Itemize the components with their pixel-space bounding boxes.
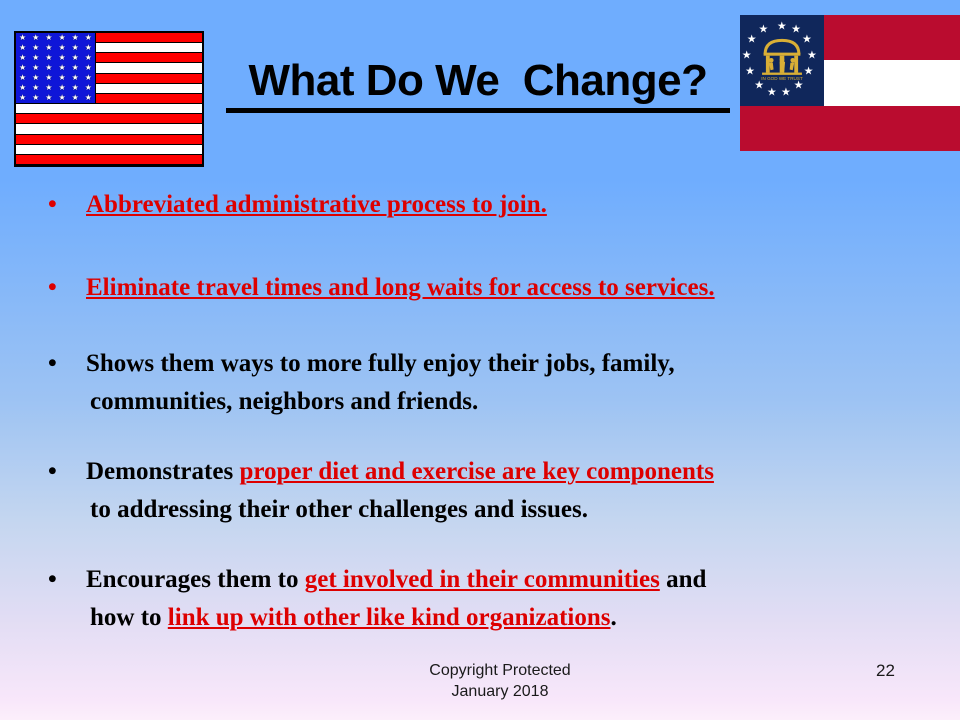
bullet-segment: .: [611, 604, 617, 631]
star-icon: ★: [745, 67, 755, 78]
star-icon: ★: [58, 34, 65, 42]
star-icon: ★: [754, 80, 764, 91]
star-icon: ★: [72, 84, 79, 92]
star-icon: ★: [19, 44, 26, 52]
bullet-item: • Demonstrates proper diet and exercise …: [48, 453, 928, 529]
star-icon: ★: [58, 64, 65, 72]
bullet-segment-highlight: proper diet and exercise are key compone…: [239, 458, 714, 485]
star-icon: ★: [32, 54, 39, 62]
star-icon: ★: [742, 50, 752, 61]
star-icon: ★: [58, 84, 65, 92]
star-icon: ★: [807, 50, 817, 61]
page-number: 22: [876, 660, 895, 681]
bullet-list: • Abbreviated administrative process to …: [48, 186, 928, 637]
star-icon: ★: [32, 64, 39, 72]
star-icon: ★: [85, 74, 92, 82]
bullet-line: how to link up with other like kind orga…: [86, 599, 928, 637]
us-flag-stripe: [16, 145, 202, 155]
star-icon: ★: [777, 21, 787, 32]
bullet-segment: Shows them ways to more fully enjoy thei…: [86, 350, 675, 377]
star-icon: ★: [781, 88, 791, 99]
star-icon: ★: [85, 44, 92, 52]
star-icon: ★: [72, 74, 79, 82]
star-icon: ★: [19, 94, 26, 102]
bullet-text: Shows them ways to more fully enjoy thei…: [86, 345, 928, 421]
star-icon: ★: [32, 94, 39, 102]
star-icon: ★: [19, 74, 26, 82]
bullet-marker: •: [48, 186, 86, 224]
bullet-segment: to addressing their other challenges and…: [86, 491, 928, 529]
slide-canvas: ★★★★★★ ★★★★★★ ★★★★★★ ★★★★★★ ★★★★★★ ★★★★★…: [0, 0, 960, 720]
bullet-text: Eliminate travel times and long waits fo…: [86, 269, 928, 307]
bullet-item: • Encourages them to get involved in the…: [48, 561, 928, 637]
bullet-marker: •: [48, 269, 86, 307]
us-flag-stripe: [16, 104, 202, 114]
bullet-marker: •: [48, 453, 86, 491]
star-icon: ★: [72, 64, 79, 72]
star-icon: ★: [72, 94, 79, 102]
star-icon: ★: [32, 34, 39, 42]
star-icon: ★: [85, 54, 92, 62]
svg-text:IN GOD WE TRUST: IN GOD WE TRUST: [761, 76, 803, 81]
star-icon: ★: [45, 44, 52, 52]
us-flag-stripe: [16, 155, 202, 165]
star-icon: ★: [767, 88, 777, 99]
footer-copyright: Copyright Protected January 2018: [370, 660, 630, 702]
star-icon: ★: [58, 54, 65, 62]
title-underline-rule: [226, 108, 730, 113]
star-icon: ★: [32, 84, 39, 92]
star-icon: ★: [85, 34, 92, 42]
star-icon: ★: [747, 35, 757, 46]
bullet-item: • Shows them ways to more fully enjoy th…: [48, 345, 928, 421]
bullet-segment: communities, neighbors and friends.: [86, 383, 928, 421]
us-flag-canton: ★★★★★★ ★★★★★★ ★★★★★★ ★★★★★★ ★★★★★★ ★★★★★…: [16, 33, 96, 104]
bullet-text: Encourages them to get involved in their…: [86, 561, 928, 637]
star-icon: ★: [45, 94, 52, 102]
star-icon: ★: [32, 74, 39, 82]
star-icon: ★: [72, 54, 79, 62]
bullet-segment-highlight: link up with other like kind organizatio…: [168, 604, 611, 631]
bullet-text: Demonstrates proper diet and exercise ar…: [86, 453, 928, 529]
star-icon: ★: [45, 54, 52, 62]
bullet-marker: •: [48, 561, 86, 599]
ga-flag-canton: ★ ★ ★ ★ ★ ★ ★ ★ ★ ★ ★ ★ ★: [740, 15, 824, 106]
bullet-segment: and: [660, 566, 707, 593]
star-icon: ★: [804, 67, 814, 78]
star-icon: ★: [85, 84, 92, 92]
star-icon: ★: [32, 44, 39, 52]
ga-flag-red-bar: [740, 106, 960, 151]
star-icon: ★: [58, 94, 65, 102]
united-states-flag-icon: ★★★★★★ ★★★★★★ ★★★★★★ ★★★★★★ ★★★★★★ ★★★★★…: [14, 31, 204, 167]
bullet-item: • Abbreviated administrative process to …: [48, 186, 928, 224]
bullet-text: Abbreviated administrative process to jo…: [86, 186, 928, 224]
star-icon: ★: [85, 64, 92, 72]
bullet-segment-highlight: get involved in their communities: [305, 566, 660, 593]
bullet-item: • Eliminate travel times and long waits …: [48, 269, 928, 307]
us-flag-stripe: [16, 135, 202, 145]
star-icon: ★: [19, 34, 26, 42]
bullet-segment: Demonstrates: [86, 458, 239, 485]
footer-line-1: Copyright Protected: [370, 660, 630, 681]
slide-title: What Do We Change?: [222, 55, 734, 107]
us-flag-stripe: [16, 124, 202, 134]
star-icon: ★: [45, 64, 52, 72]
bullet-segment: Abbreviated administrative process to jo…: [86, 191, 547, 218]
star-icon: ★: [19, 64, 26, 72]
star-icon: ★: [72, 34, 79, 42]
star-icon: ★: [45, 84, 52, 92]
star-icon: ★: [794, 80, 804, 91]
star-icon: ★: [19, 54, 26, 62]
star-icon: ★: [58, 74, 65, 82]
us-flag-stripe: [16, 114, 202, 124]
georgia-state-seal-icon: IN GOD WE TRUST: [759, 34, 805, 82]
bullet-segment: Encourages them to: [86, 566, 305, 593]
georgia-state-flag-icon: ★ ★ ★ ★ ★ ★ ★ ★ ★ ★ ★ ★ ★: [740, 15, 960, 151]
star-icon: ★: [72, 44, 79, 52]
star-icon: ★: [85, 94, 92, 102]
star-icon: ★: [58, 44, 65, 52]
bullet-segment: how to: [90, 604, 168, 631]
bullet-marker: •: [48, 345, 86, 383]
star-icon: ★: [45, 34, 52, 42]
star-icon: ★: [45, 74, 52, 82]
footer-line-2: January 2018: [370, 681, 630, 702]
bullet-segment: Eliminate travel times and long waits fo…: [86, 274, 715, 301]
star-icon: ★: [19, 84, 26, 92]
